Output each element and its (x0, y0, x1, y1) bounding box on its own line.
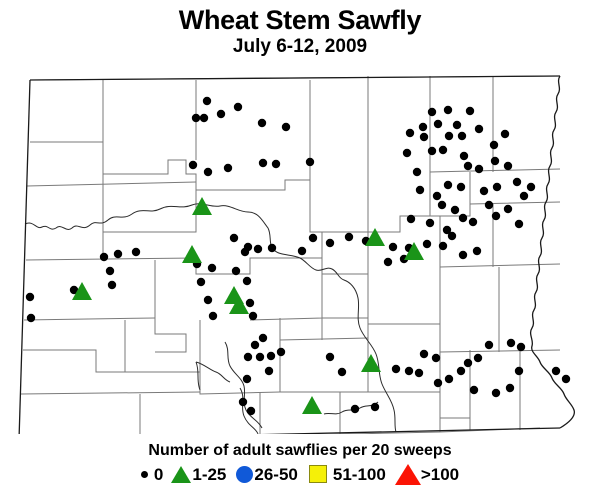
map-point-zero (230, 234, 238, 242)
map-point-zero (192, 114, 200, 122)
map-point-zero (485, 201, 493, 209)
legend-item-1-25: 1-25 (163, 466, 226, 483)
map-point-zero (469, 218, 477, 226)
map-point-zero (552, 367, 560, 375)
map-point-zero (224, 164, 232, 172)
map-point-zero (249, 312, 257, 320)
map-point-zero (259, 334, 267, 342)
map-point-zero (247, 407, 255, 415)
map-point-zero (433, 192, 441, 200)
map-point-zero (490, 141, 498, 149)
map-point-zero (453, 121, 461, 129)
map-point-zero (504, 162, 512, 170)
legend-label-51-100: 51-100 (333, 466, 386, 483)
map-point-zero (345, 233, 353, 241)
map-point-zero (492, 389, 500, 397)
map-point-zero (480, 187, 488, 195)
map-point-zero (460, 152, 468, 160)
map-point-zero (243, 375, 251, 383)
map-point-zero (189, 161, 197, 169)
map-point-zero (243, 277, 251, 285)
map-point-zero (265, 367, 273, 375)
legend-label-0: 0 (154, 466, 163, 483)
map-point-zero (473, 247, 481, 255)
map-point-zero (405, 367, 413, 375)
map-point-zero (389, 243, 397, 251)
legend: Number of adult sawflies per 20 sweeps 0… (0, 442, 600, 485)
legend-item-0: 0 (141, 466, 163, 483)
map-point-zero (132, 248, 140, 256)
legend-item-51-100: 51-100 (298, 465, 386, 483)
map-point-zero (259, 159, 267, 167)
map-point-zero (513, 178, 521, 186)
map-point-zero (338, 368, 346, 376)
map-point-zero (258, 119, 266, 127)
map-point-zero (501, 130, 509, 138)
map-point-zero (371, 403, 379, 411)
map-point-zero (251, 341, 259, 349)
map-point-1-25 (182, 245, 202, 263)
map-point-zero (475, 165, 483, 173)
map-point-zero (439, 242, 447, 250)
map-point-zero (434, 120, 442, 128)
title-block: Wheat Stem Sawfly July 6-12, 2009 (0, 6, 600, 57)
map-point-zero (241, 248, 249, 256)
black-dot-icon (141, 471, 148, 478)
page-title: Wheat Stem Sawfly (0, 6, 600, 34)
river-branch (196, 362, 378, 434)
green-triangle-icon (171, 466, 191, 483)
map-point-zero (254, 245, 262, 253)
map-point-zero (475, 125, 483, 133)
map-point-zero (470, 386, 478, 394)
map-point-zero (392, 365, 400, 373)
map-point-zero (403, 149, 411, 157)
map-point-zero (208, 264, 216, 272)
map-point-zero (428, 108, 436, 116)
legend-title: Number of adult sawflies per 20 sweeps (0, 442, 600, 460)
legend-item-over-100: >100 (386, 464, 459, 485)
map-point-zero (267, 352, 275, 360)
map-point-zero (432, 354, 440, 362)
map-point-zero (474, 354, 482, 362)
map-point-zero (515, 367, 523, 375)
map-point-zero (459, 251, 467, 259)
map-page: Wheat Stem Sawfly July 6-12, 2009 (0, 0, 600, 498)
map-point-zero (106, 267, 114, 275)
map-point-zero (426, 219, 434, 227)
map-point-zero (268, 244, 276, 252)
map-point-zero (492, 212, 500, 220)
legend-label-1-25: 1-25 (192, 466, 226, 483)
map-point-zero (493, 183, 501, 191)
legend-label-26-50: 26-50 (254, 466, 297, 483)
map-point-zero (451, 206, 459, 214)
map-point-zero (416, 186, 424, 194)
map-point-zero (246, 299, 254, 307)
map-point-zero (232, 267, 240, 275)
north-dakota-map (0, 62, 600, 434)
map-point-zero (209, 312, 217, 320)
map-point-zero (203, 97, 211, 105)
map-point-zero (464, 162, 472, 170)
map-point-zero (413, 168, 421, 176)
data-points-zero (26, 97, 570, 415)
map-point-zero (407, 215, 415, 223)
legend-items: 0 1-25 26-50 51-100 >100 (0, 464, 600, 485)
map-point-zero (256, 353, 264, 361)
map-point-zero (459, 214, 467, 222)
map-point-zero (562, 375, 570, 383)
map-point-zero (464, 359, 472, 367)
map-point-zero (204, 168, 212, 176)
map-point-zero (406, 129, 414, 137)
map-point-zero (439, 146, 447, 154)
map-point-1-25 (192, 197, 212, 215)
map-point-zero (458, 132, 466, 140)
map-point-zero (419, 123, 427, 131)
map-point-zero (457, 367, 465, 375)
map-point-zero (204, 296, 212, 304)
map-point-1-25 (302, 396, 322, 414)
map-point-zero (515, 220, 523, 228)
yellow-square-icon (309, 465, 327, 483)
map-point-zero (491, 157, 499, 165)
legend-item-26-50: 26-50 (226, 466, 297, 483)
map-point-zero (200, 114, 208, 122)
map-point-zero (234, 103, 242, 111)
map-point-zero (527, 183, 535, 191)
map-point-zero (277, 348, 285, 356)
map-point-zero (351, 405, 359, 413)
map-point-zero (457, 183, 465, 191)
map-point-zero (326, 353, 334, 361)
map-point-zero (27, 314, 35, 322)
map-point-zero (434, 379, 442, 387)
map-point-zero (197, 278, 205, 286)
map-point-zero (108, 281, 116, 289)
map-point-zero (445, 375, 453, 383)
map-point-zero (244, 353, 252, 361)
map-point-zero (100, 253, 108, 261)
map-point-zero (444, 181, 452, 189)
map-point-zero (306, 158, 314, 166)
map-point-zero (506, 384, 514, 392)
legend-label-over-100: >100 (421, 466, 459, 483)
map-point-zero (217, 110, 225, 118)
map-point-zero (438, 201, 446, 209)
map-point-zero (420, 350, 428, 358)
map-point-zero (428, 147, 436, 155)
map-point-zero (444, 106, 452, 114)
blue-circle-icon (236, 466, 253, 483)
map-point-zero (420, 133, 428, 141)
map-point-zero (298, 247, 306, 255)
map-container (0, 62, 600, 434)
map-point-zero (26, 293, 34, 301)
map-point-zero (282, 123, 290, 131)
map-point-zero (517, 343, 525, 351)
map-point-zero (485, 341, 493, 349)
map-point-zero (415, 369, 423, 377)
map-point-zero (239, 398, 247, 406)
map-point-zero (520, 192, 528, 200)
red-triangle-icon (395, 464, 421, 485)
map-point-zero (445, 132, 453, 140)
map-point-zero (309, 234, 317, 242)
map-point-zero (507, 339, 515, 347)
map-point-zero (466, 107, 474, 115)
map-point-zero (114, 250, 122, 258)
map-point-zero (423, 240, 431, 248)
map-point-zero (504, 205, 512, 213)
page-subtitle: July 6-12, 2009 (0, 37, 600, 57)
map-point-zero (326, 239, 334, 247)
map-point-zero (384, 258, 392, 266)
map-point-zero (272, 160, 280, 168)
map-point-zero (448, 232, 456, 240)
